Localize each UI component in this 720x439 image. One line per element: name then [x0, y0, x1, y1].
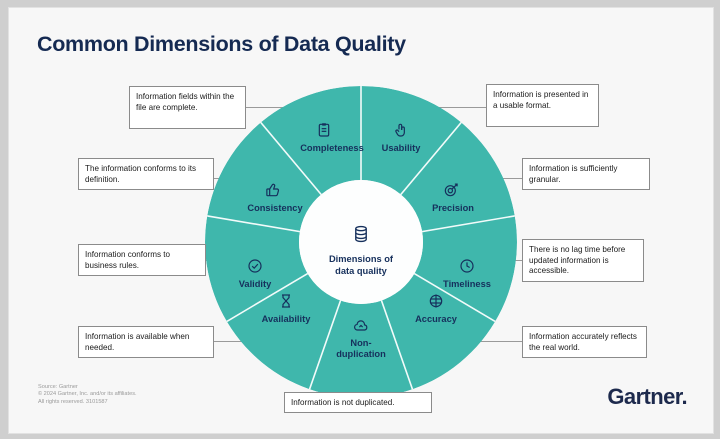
callout-text-accuracy: Information accurately reflects the real…	[529, 332, 637, 352]
callout-completeness: Information fields within the file are c…	[129, 86, 246, 129]
segment-label-non-duplication: Non- duplication	[336, 338, 386, 359]
callout-accuracy: Information accurately reflects the real…	[522, 326, 647, 358]
callout-text-non-duplication: Information is not duplicated.	[291, 398, 394, 407]
segment-label-availability: Availability	[262, 314, 311, 325]
source-attribution: Source: Gartner © 2024 Gartner, Inc. and…	[38, 384, 137, 406]
callout-consistency: The information conforms to its definiti…	[78, 158, 214, 190]
callout-text-precision: Information is sufficiently granular.	[529, 164, 617, 184]
clock-icon	[459, 258, 475, 274]
hub-label: Dimensions of data quality	[329, 254, 393, 277]
hourglass-icon	[278, 293, 294, 309]
segment-label-completeness: Completeness	[300, 143, 364, 154]
callout-text-completeness: Information fields within the file are c…	[136, 92, 234, 112]
infographic-canvas: Common Dimensions of Data Quality	[8, 7, 714, 434]
cloud-icon	[353, 318, 369, 334]
callout-validity: Information conforms to business rules.	[78, 244, 206, 276]
callout-precision: Information is sufficiently granular.	[522, 158, 650, 190]
segment-label-precision: Precision	[432, 203, 474, 214]
segment-label-validity: Validity	[239, 279, 272, 290]
gartner-logo-mark: .	[681, 384, 687, 409]
callout-timeliness: There is no lag time before updated info…	[522, 239, 644, 282]
source-line-3: All rights reserved. 3101587	[38, 399, 137, 406]
hub-label-line1: Dimensions of	[329, 254, 393, 266]
database-icon	[352, 225, 371, 244]
hand-tap-icon	[393, 122, 409, 138]
data-quality-wheel: Dimensions of data quality Completeness …	[205, 86, 517, 398]
callout-usability: Information is presented in a usable for…	[486, 84, 599, 127]
gartner-logo-text: Gartner	[607, 384, 681, 409]
callout-text-usability: Information is presented in a usable for…	[493, 90, 588, 110]
source-line-2: © 2024 Gartner, Inc. and/or its affiliat…	[38, 391, 137, 398]
segment-label-accuracy: Accuracy	[415, 314, 457, 325]
callout-text-timeliness: There is no lag time before updated info…	[529, 245, 625, 275]
clipboard-icon	[316, 122, 332, 138]
check-circle-icon	[247, 258, 263, 274]
callout-non-duplication: Information is not duplicated.	[284, 392, 432, 413]
crosshair-icon	[428, 293, 444, 309]
segment-label-consistency: Consistency	[247, 203, 302, 214]
callout-text-consistency: The information conforms to its definiti…	[85, 164, 196, 184]
gartner-logo: Gartner.	[607, 384, 687, 410]
segment-label-timeliness: Timeliness	[443, 279, 491, 290]
callout-availability: Information is available when needed.	[78, 326, 214, 358]
hub-label-line2: data quality	[329, 266, 393, 278]
callout-text-validity: Information conforms to business rules.	[85, 250, 170, 270]
segment-label-usability: Usability	[382, 143, 421, 154]
target-icon	[443, 182, 459, 198]
thumbs-up-icon	[265, 182, 281, 198]
callout-text-availability: Information is available when needed.	[85, 332, 189, 352]
page-title: Common Dimensions of Data Quality	[37, 32, 406, 57]
